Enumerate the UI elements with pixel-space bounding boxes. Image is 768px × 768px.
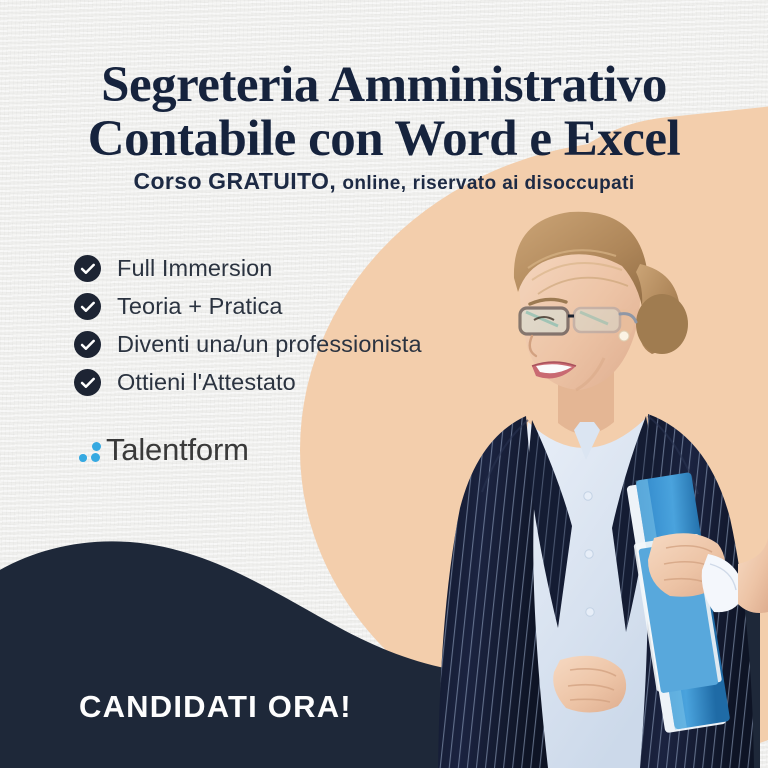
- list-item: Ottieni l'Attestato: [74, 366, 422, 399]
- subtitle-part-1: Corso: [133, 168, 201, 194]
- subtitle-part-3: online,: [342, 173, 406, 194]
- page-title: Segreteria Amministrativo Contabile con …: [0, 58, 768, 166]
- list-item: Full Immersion: [74, 252, 422, 285]
- cta-text[interactable]: CANDIDATI ORA!: [79, 689, 352, 725]
- three-dots-icon: [76, 434, 108, 466]
- headline-line-2: Contabile con Word e Excel: [0, 112, 768, 166]
- promotional-poster: Segreteria Amministrativo Contabile con …: [0, 0, 768, 768]
- benefit-label: Full Immersion: [117, 255, 272, 282]
- check-circle-icon: [74, 331, 101, 358]
- businesswoman-photo: [408, 208, 768, 768]
- headline-line-1: Segreteria Amministrativo: [0, 58, 768, 112]
- brand-logo: Talentform: [76, 432, 249, 468]
- benefit-label: Ottieni l'Attestato: [117, 369, 296, 396]
- benefits-list: Full Immersion Teoria + Pratica Diventi …: [74, 252, 422, 404]
- list-item: Diventi una/un professionista: [74, 328, 422, 361]
- check-circle-icon: [74, 255, 101, 282]
- subtitle: Corso GRATUITO, online, riservato ai dis…: [0, 168, 768, 195]
- subtitle-part-4: riservato ai disoccupati: [413, 173, 635, 194]
- check-circle-icon: [74, 293, 101, 320]
- check-circle-icon: [74, 369, 101, 396]
- benefit-label: Teoria + Pratica: [117, 293, 283, 320]
- benefit-label: Diventi una/un professionista: [117, 331, 422, 358]
- subtitle-part-2: GRATUITO,: [208, 168, 336, 194]
- list-item: Teoria + Pratica: [74, 290, 422, 323]
- brand-name: Talentform: [106, 432, 249, 468]
